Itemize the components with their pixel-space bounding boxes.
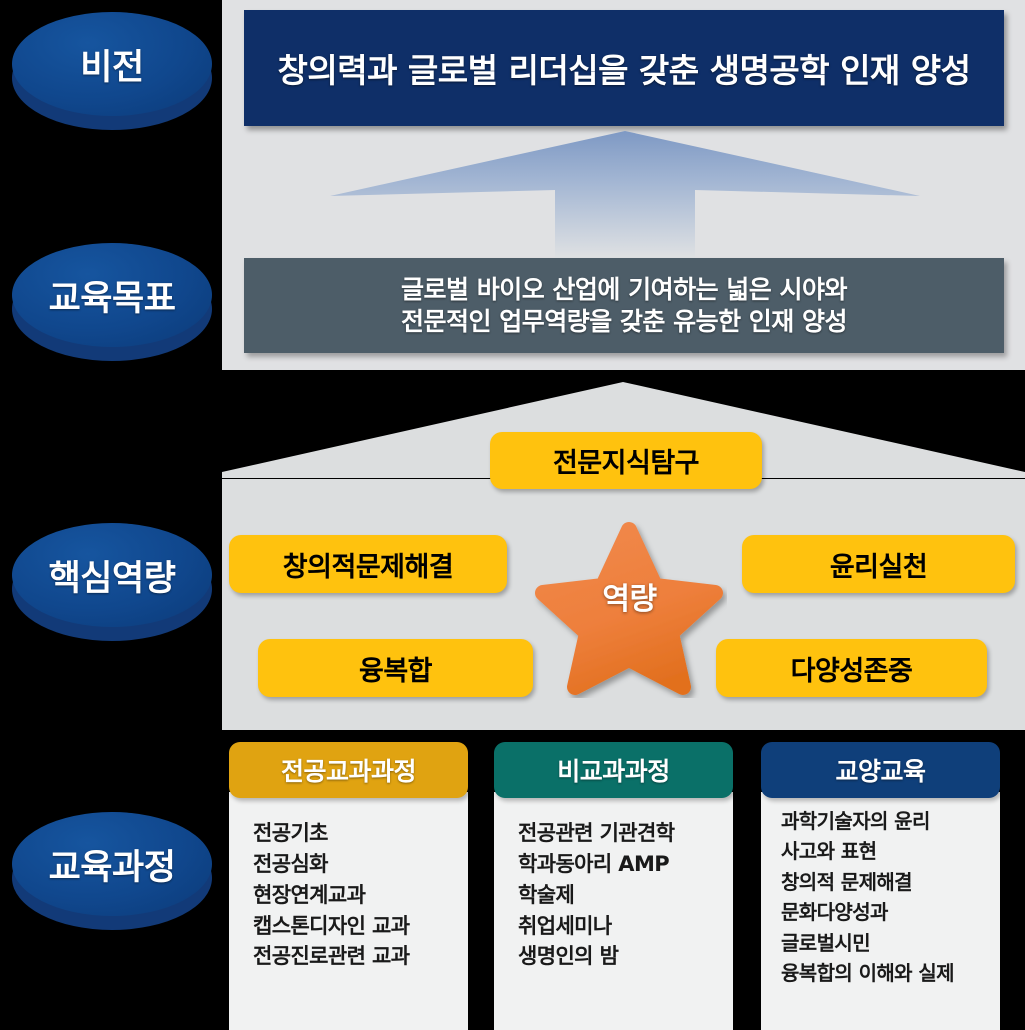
curriculum-column-liberal-arts: 교양교육 과학기술자의 윤리 사고와 표현 창의적 문제해결 문화다양성과 글로… bbox=[761, 742, 1000, 1030]
row-label-vision-text: 비전 bbox=[80, 39, 143, 90]
list-item: 창의적 문제해결 bbox=[781, 867, 1000, 897]
competency-badge-diversity-label: 다양성존중 bbox=[791, 649, 913, 688]
row-label-goal: 교육목표 bbox=[12, 243, 212, 361]
list-item: 글로벌시민 bbox=[781, 928, 1000, 958]
row-label-curriculum-text: 교육과정 bbox=[49, 839, 176, 890]
competency-badge-ethics[interactable]: 윤리실천 bbox=[742, 535, 1015, 593]
curriculum-column-extracurricular: 비교과과정 전공관련 기관견학 학과동아리 AMP 학술제 취업세미나 생명인의… bbox=[494, 742, 733, 1030]
list-item: 학술제 bbox=[518, 880, 733, 911]
row-label-curriculum: 교육과정 bbox=[12, 812, 212, 930]
goal-banner: 글로벌 바이오 산업에 기여하는 넓은 시야와 전문적인 업무역량을 갖춘 유능… bbox=[244, 258, 1004, 353]
list-item: 전공기초 bbox=[253, 818, 468, 849]
ellipse-face: 비전 bbox=[12, 12, 212, 116]
competency-badge-creative-problem-solving[interactable]: 창의적문제해결 bbox=[229, 535, 507, 593]
ellipse-face: 교육목표 bbox=[12, 243, 212, 347]
ellipse-face: 핵심역량 bbox=[12, 523, 212, 627]
goal-text-line1: 글로벌 바이오 산업에 기여하는 넓은 시야와 bbox=[401, 274, 847, 306]
list-item: 전공관련 기관견학 bbox=[518, 818, 733, 849]
curriculum-column-major-title: 전공교과과정 bbox=[281, 752, 416, 788]
curriculum-column-liberal-arts-title: 교양교육 bbox=[835, 752, 925, 788]
list-item: 생명인의 밤 bbox=[518, 941, 733, 972]
list-item: 문화다양성과 bbox=[781, 897, 1000, 927]
up-arrow-icon bbox=[330, 128, 920, 258]
list-item: 현장연계교과 bbox=[253, 880, 468, 911]
competency-badge-convergence[interactable]: 융복합 bbox=[258, 639, 533, 697]
list-item: 융복합의 이해와 실제 bbox=[781, 958, 1000, 988]
goal-text-line2: 전문적인 업무역량을 갖춘 유능한 인재 양성 bbox=[401, 306, 847, 338]
list-item: 전공심화 bbox=[253, 849, 468, 880]
curriculum-major-list: 전공기초 전공심화 현장연계교과 캡스톤디자인 교과 전공진로관련 교과 bbox=[229, 818, 468, 972]
competency-badge-specialty-label: 전문지식탐구 bbox=[553, 441, 699, 480]
ellipse-face: 교육과정 bbox=[12, 812, 212, 916]
diagram-canvas: 비전 교육목표 핵심역량 교육과정 창의력과 글로벌 리더십을 갖춘 생명공학 … bbox=[0, 0, 1025, 1030]
curriculum-column-major: 전공교과과정 전공기초 전공심화 현장연계교과 캡스톤디자인 교과 전공진로관련… bbox=[229, 742, 468, 1030]
competency-badge-ethics-label: 윤리실천 bbox=[830, 545, 927, 584]
row-label-competency-text: 핵심역량 bbox=[49, 550, 176, 601]
row-label-vision: 비전 bbox=[12, 12, 212, 130]
competency-badge-convergence-label: 융복합 bbox=[359, 649, 432, 688]
curriculum-column-liberal-arts-header[interactable]: 교양교육 bbox=[761, 742, 1000, 798]
vision-text: 창의력과 글로벌 리더십을 갖춘 생명공학 인재 양성 bbox=[278, 44, 971, 92]
list-item: 캡스톤디자인 교과 bbox=[253, 911, 468, 942]
vision-goal-panel: 창의력과 글로벌 리더십을 갖춘 생명공학 인재 양성 글로벌 바이오 산업에 … bbox=[222, 0, 1025, 370]
list-item: 학과동아리 AMP bbox=[518, 849, 733, 880]
curriculum-column-liberal-arts-body: 과학기술자의 윤리 사고와 표현 창의적 문제해결 문화다양성과 글로벌시민 융… bbox=[761, 792, 1000, 1030]
list-item: 취업세미나 bbox=[518, 911, 733, 942]
competency-badge-specialty[interactable]: 전문지식탐구 bbox=[490, 432, 762, 489]
curriculum-column-extracurricular-header[interactable]: 비교과과정 bbox=[494, 742, 733, 798]
curriculum-column-extracurricular-body: 전공관련 기관견학 학과동아리 AMP 학술제 취업세미나 생명인의 밤 bbox=[494, 792, 733, 1030]
vision-banner: 창의력과 글로벌 리더십을 갖춘 생명공학 인재 양성 bbox=[244, 10, 1004, 126]
row-label-competency: 핵심역량 bbox=[12, 523, 212, 641]
curriculum-column-major-body: 전공기초 전공심화 현장연계교과 캡스톤디자인 교과 전공진로관련 교과 bbox=[229, 792, 468, 1030]
curriculum-column-major-header[interactable]: 전공교과과정 bbox=[229, 742, 468, 798]
curriculum-column-extracurricular-title: 비교과과정 bbox=[557, 752, 670, 788]
list-item: 전공진로관련 교과 bbox=[253, 941, 468, 972]
curriculum-liberal-arts-list: 과학기술자의 윤리 사고와 표현 창의적 문제해결 문화다양성과 글로벌시민 융… bbox=[761, 806, 1000, 988]
curriculum-extracurricular-list: 전공관련 기관견학 학과동아리 AMP 학술제 취업세미나 생명인의 밤 bbox=[494, 818, 733, 972]
list-item: 사고와 표현 bbox=[781, 836, 1000, 866]
competency-star: 역량 bbox=[532, 508, 727, 698]
row-label-goal-text: 교육목표 bbox=[49, 270, 176, 321]
list-item: 과학기술자의 윤리 bbox=[781, 806, 1000, 836]
competency-badge-creative-problem-solving-label: 창의적문제해결 bbox=[283, 545, 453, 584]
competency-badge-diversity[interactable]: 다양성존중 bbox=[716, 639, 987, 697]
